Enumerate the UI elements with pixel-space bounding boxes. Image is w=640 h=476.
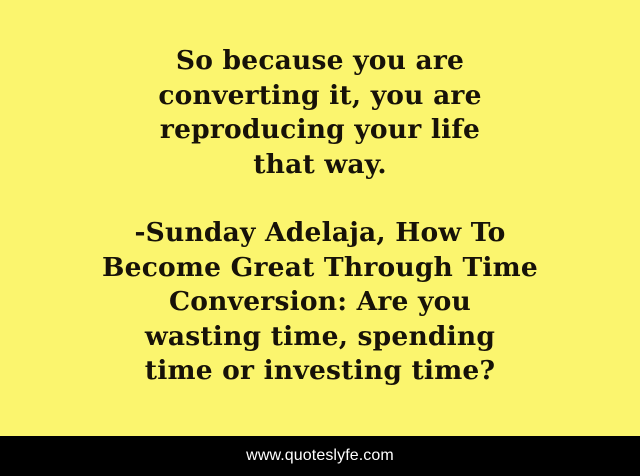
attribution-line: time or investing time?: [24, 354, 616, 389]
quote-content-area: So because you are converting it, you ar…: [0, 0, 640, 436]
quote-line: that way.: [24, 148, 616, 183]
attribution-line: wasting time, spending: [24, 320, 616, 355]
quote-text-block: So because you are converting it, you ar…: [24, 44, 616, 182]
attribution-line: -Sunday Adelaja, How To: [24, 216, 616, 251]
attribution-line: Become Great Through Time: [24, 251, 616, 286]
attribution-text-block: -Sunday Adelaja, How To Become Great Thr…: [24, 216, 616, 389]
site-url-label: www.quoteslyfe.com: [246, 448, 394, 464]
footer-bar: www.quoteslyfe.com: [0, 436, 640, 476]
quote-line: reproducing your life: [24, 113, 616, 148]
quote-card: So because you are converting it, you ar…: [0, 0, 640, 476]
attribution-line: Conversion: Are you: [24, 285, 616, 320]
quote-line: converting it, you are: [24, 79, 616, 114]
quote-line: So because you are: [24, 44, 616, 79]
